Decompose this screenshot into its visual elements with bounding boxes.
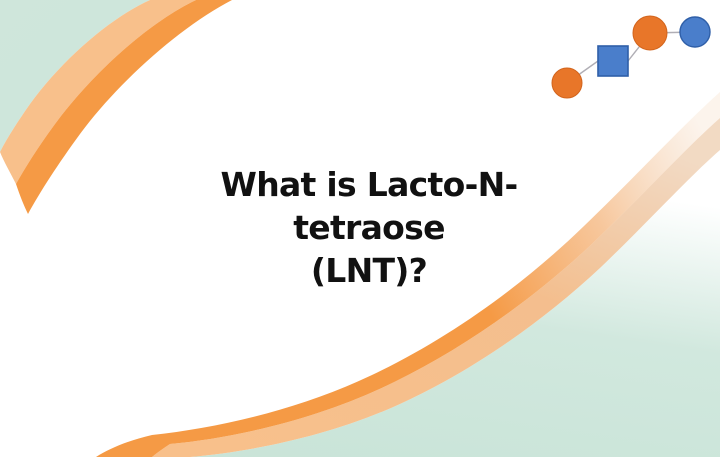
page-title: What is Lacto-N-tetraose (LNT)? (154, 164, 584, 293)
title-block: What is Lacto-N-tetraose (LNT)? (0, 0, 720, 457)
slide-canvas: What is Lacto-N-tetraose (LNT)? (0, 0, 720, 457)
